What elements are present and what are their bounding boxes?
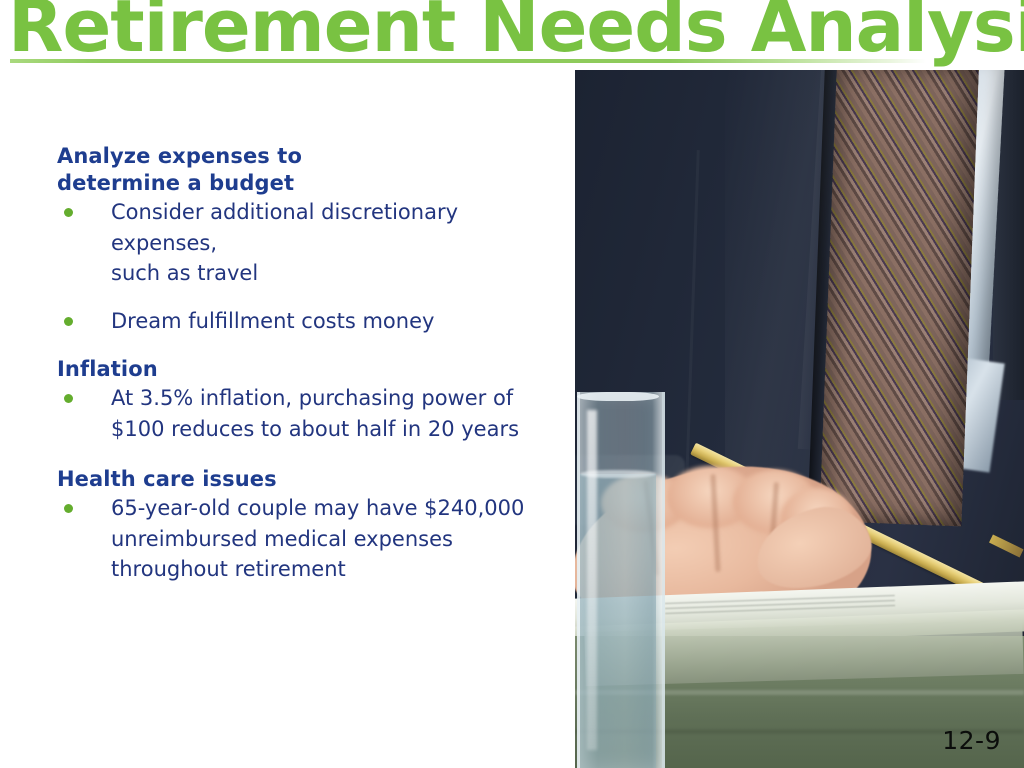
bullet-list: 65-year-old couple may have $240,000 unr…: [57, 493, 557, 585]
glass-highlight: [587, 410, 597, 750]
section-spacer: [57, 444, 557, 466]
bullet-dot-icon: [64, 394, 73, 403]
content-column: Analyze expenses to determine a budget C…: [57, 143, 557, 585]
list-item: 65-year-old couple may have $240,000 unr…: [57, 493, 557, 585]
section-heading: Inflation: [57, 356, 557, 383]
glass-rim: [577, 392, 659, 401]
bullet-dot-icon: [64, 208, 73, 217]
title-underline-rule: [10, 59, 926, 63]
necktie: [819, 70, 979, 526]
list-item-text: At 3.5% inflation, purchasing power of $…: [111, 386, 519, 441]
bullet-list: Consider additional discretionary expens…: [57, 197, 557, 336]
list-item-text: 65-year-old couple may have $240,000 unr…: [111, 496, 524, 581]
page-number: 12-9: [942, 727, 1001, 755]
list-item: Consider additional discretionary expens…: [57, 197, 557, 289]
section-analyze-expenses: Analyze expenses to determine a budget C…: [57, 143, 557, 336]
section-heading: Health care issues: [57, 466, 557, 493]
section-spacer: [57, 336, 557, 356]
bullet-dot-icon: [64, 317, 73, 326]
section-heading-line-1: Analyze expenses to: [57, 143, 557, 170]
bullet-dot-icon: [64, 504, 73, 513]
list-item: At 3.5% inflation, purchasing power of $…: [57, 383, 557, 444]
bullet-list: At 3.5% inflation, purchasing power of $…: [57, 383, 557, 444]
slide: Retirement Needs Analysis Analyze expens…: [0, 0, 1024, 768]
section-heading-line-2: determine a budget: [57, 170, 557, 197]
page-title: Retirement Needs Analysis: [8, 0, 1024, 68]
list-item: Dream fulfillment costs money: [57, 306, 557, 337]
list-item-text: Consider additional discretionary expens…: [111, 200, 458, 285]
section-inflation: Inflation At 3.5% inflation, purchasing …: [57, 356, 557, 444]
photo-businessman-writing: 12-9: [575, 70, 1024, 768]
section-health-care: Health care issues 65-year-old couple ma…: [57, 466, 557, 585]
list-item-text: Dream fulfillment costs money: [111, 309, 434, 333]
